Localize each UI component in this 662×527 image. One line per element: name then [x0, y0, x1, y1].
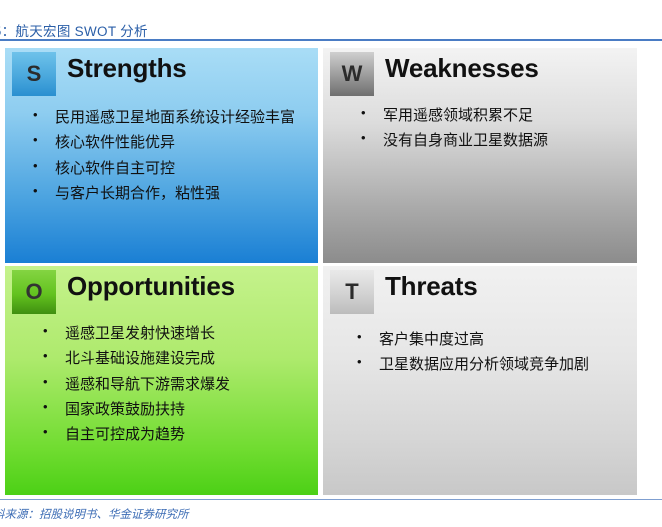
- list-item: 自主可控成为趋势: [41, 422, 304, 446]
- opportunities-title: Opportunities: [67, 271, 235, 302]
- list-item: 核心软件性能优异: [31, 130, 304, 154]
- list-item: 客户集中度过高: [355, 327, 623, 351]
- header-divider: [0, 39, 662, 41]
- list-item: 民用遥感卫星地面系统设计经验丰富: [31, 105, 304, 129]
- list-item: 北斗基础设施建设完成: [41, 346, 304, 370]
- weaknesses-badge: W: [330, 52, 374, 96]
- list-item: 遥感和导航下游需求爆发: [41, 372, 304, 396]
- strengths-title: Strengths: [67, 53, 187, 84]
- threats-badge: T: [330, 270, 374, 314]
- list-item: 核心软件自主可控: [31, 156, 304, 180]
- weaknesses-badge-letter: W: [342, 61, 363, 87]
- opportunities-header: O Opportunities: [5, 266, 318, 313]
- list-item: 国家政策鼓励扶持: [41, 397, 304, 421]
- threats-header: T Threats: [323, 266, 637, 313]
- source-note: 料来源：招股说明书、华金证券研究所: [0, 506, 189, 522]
- weaknesses-title: Weaknesses: [385, 53, 539, 84]
- opportunities-badge-letter: O: [25, 279, 42, 305]
- weaknesses-list: 军用遥感领域积累不足 没有自身商业卫星数据源: [323, 95, 637, 153]
- quadrant-weaknesses: W Weaknesses 军用遥感领域积累不足 没有自身商业卫星数据源: [323, 48, 637, 263]
- list-item: 卫星数据应用分析领域竞争加剧: [355, 352, 623, 376]
- list-item: 没有自身商业卫星数据源: [359, 128, 623, 152]
- quadrant-opportunities: O Opportunities 遥感卫星发射快速增长 北斗基础设施建设完成 遥感…: [5, 266, 318, 495]
- quadrant-threats: T Threats 客户集中度过高 卫星数据应用分析领域竞争加剧: [323, 266, 637, 495]
- threats-list: 客户集中度过高 卫星数据应用分析领域竞争加剧: [323, 313, 637, 377]
- opportunities-list: 遥感卫星发射快速增长 北斗基础设施建设完成 遥感和导航下游需求爆发 国家政策鼓励…: [5, 313, 318, 446]
- page-header: 25：航天宏图 SWOT 分析: [0, 0, 662, 40]
- page-title: 25：航天宏图 SWOT 分析: [0, 20, 148, 40]
- strengths-badge: S: [12, 52, 56, 96]
- quadrant-strengths: S Strengths 民用遥感卫星地面系统设计经验丰富 核心软件性能优异 核心…: [5, 48, 318, 263]
- footer-divider: [0, 499, 662, 500]
- list-item: 军用遥感领域积累不足: [359, 103, 623, 127]
- threats-title: Threats: [385, 271, 478, 302]
- threats-badge-letter: T: [345, 279, 358, 305]
- strengths-list: 民用遥感卫星地面系统设计经验丰富 核心软件性能优异 核心软件自主可控 与客户长期…: [5, 95, 318, 205]
- swot-matrix: S Strengths 民用遥感卫星地面系统设计经验丰富 核心软件性能优异 核心…: [5, 48, 657, 495]
- strengths-header: S Strengths: [5, 48, 318, 95]
- weaknesses-header: W Weaknesses: [323, 48, 637, 95]
- strengths-badge-letter: S: [27, 61, 42, 87]
- opportunities-badge: O: [12, 270, 56, 314]
- list-item: 与客户长期合作，粘性强: [31, 181, 304, 205]
- list-item: 遥感卫星发射快速增长: [41, 321, 304, 345]
